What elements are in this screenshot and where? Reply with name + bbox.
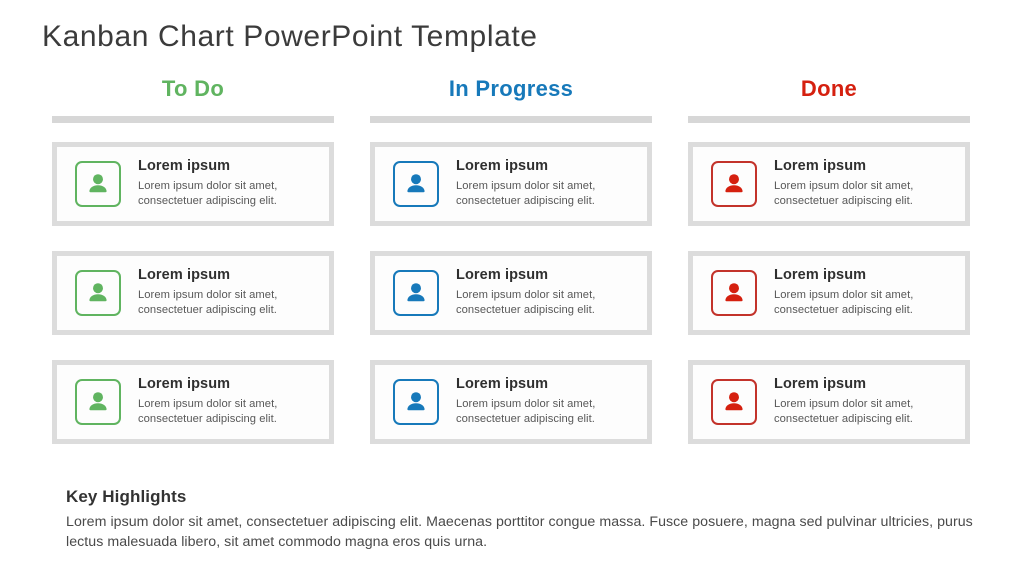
card-description: Lorem ipsum dolor sit amet, consectetuer… — [456, 397, 637, 427]
person-icon — [711, 161, 757, 207]
card-frame[interactable]: Lorem ipsum Lorem ipsum dolor sit amet, … — [688, 142, 970, 226]
person-icon — [75, 161, 121, 207]
card-text: Lorem ipsum Lorem ipsum dolor sit amet, … — [456, 159, 637, 209]
slide-title: Kanban Chart PowerPoint Template — [42, 20, 538, 54]
card-description: Lorem ipsum dolor sit amet, consectetuer… — [456, 179, 637, 209]
person-icon — [75, 270, 121, 316]
card-frame[interactable]: Lorem ipsum Lorem ipsum dolor sit amet, … — [52, 360, 334, 444]
card-description: Lorem ipsum dolor sit amet, consectetuer… — [138, 288, 319, 318]
kanban-card[interactable]: Lorem ipsum Lorem ipsum dolor sit amet, … — [57, 147, 329, 221]
card-text: Lorem ipsum Lorem ipsum dolor sit amet, … — [456, 377, 637, 427]
kanban-card[interactable]: Lorem ipsum Lorem ipsum dolor sit amet, … — [693, 147, 965, 221]
card-frame[interactable]: Lorem ipsum Lorem ipsum dolor sit amet, … — [688, 360, 970, 444]
column-divider-in-progress — [370, 116, 652, 123]
kanban-column-todo: To Do Lorem ipsum Lorem ipsum dolor sit … — [52, 78, 334, 444]
kanban-card[interactable]: Lorem ipsum Lorem ipsum dolor sit amet, … — [375, 365, 647, 439]
column-header-todo: To Do — [52, 78, 334, 104]
card-frame[interactable]: Lorem ipsum Lorem ipsum dolor sit amet, … — [52, 142, 334, 226]
card-description: Lorem ipsum dolor sit amet, consectetuer… — [138, 179, 319, 209]
column-divider-done — [688, 116, 970, 123]
kanban-column-in-progress: In Progress Lorem ipsum Lorem ipsum dolo… — [370, 78, 652, 444]
kanban-card[interactable]: Lorem ipsum Lorem ipsum dolor sit amet, … — [693, 256, 965, 330]
key-highlights-body: Lorem ipsum dolor sit amet, consectetuer… — [66, 513, 976, 553]
card-text: Lorem ipsum Lorem ipsum dolor sit amet, … — [138, 159, 319, 209]
column-header-in-progress: In Progress — [370, 78, 652, 104]
card-text: Lorem ipsum Lorem ipsum dolor sit amet, … — [774, 377, 955, 427]
card-title: Lorem ipsum — [456, 377, 637, 393]
person-icon — [393, 270, 439, 316]
person-icon — [75, 379, 121, 425]
card-title: Lorem ipsum — [456, 159, 637, 175]
card-text: Lorem ipsum Lorem ipsum dolor sit amet, … — [138, 268, 319, 318]
card-frame[interactable]: Lorem ipsum Lorem ipsum dolor sit amet, … — [688, 251, 970, 335]
kanban-card[interactable]: Lorem ipsum Lorem ipsum dolor sit amet, … — [57, 256, 329, 330]
person-icon — [393, 161, 439, 207]
column-divider-todo — [52, 116, 334, 123]
card-frame[interactable]: Lorem ipsum Lorem ipsum dolor sit amet, … — [370, 360, 652, 444]
card-description: Lorem ipsum dolor sit amet, consectetuer… — [774, 288, 955, 318]
card-title: Lorem ipsum — [774, 268, 955, 284]
card-text: Lorem ipsum Lorem ipsum dolor sit amet, … — [138, 377, 319, 427]
card-frame[interactable]: Lorem ipsum Lorem ipsum dolor sit amet, … — [370, 142, 652, 226]
kanban-card[interactable]: Lorem ipsum Lorem ipsum dolor sit amet, … — [57, 365, 329, 439]
card-title: Lorem ipsum — [774, 159, 955, 175]
kanban-column-done: Done Lorem ipsum Lorem ipsum dolor sit a… — [688, 78, 970, 444]
key-highlights-title: Key Highlights — [66, 487, 976, 507]
card-description: Lorem ipsum dolor sit amet, consectetuer… — [138, 397, 319, 427]
kanban-card[interactable]: Lorem ipsum Lorem ipsum dolor sit amet, … — [375, 147, 647, 221]
card-text: Lorem ipsum Lorem ipsum dolor sit amet, … — [456, 268, 637, 318]
card-description: Lorem ipsum dolor sit amet, consectetuer… — [774, 397, 955, 427]
card-frame[interactable]: Lorem ipsum Lorem ipsum dolor sit amet, … — [52, 251, 334, 335]
key-highlights-section: Key Highlights Lorem ipsum dolor sit ame… — [66, 487, 976, 553]
card-text: Lorem ipsum Lorem ipsum dolor sit amet, … — [774, 268, 955, 318]
card-title: Lorem ipsum — [138, 268, 319, 284]
card-text: Lorem ipsum Lorem ipsum dolor sit amet, … — [774, 159, 955, 209]
person-icon — [393, 379, 439, 425]
kanban-board: To Do Lorem ipsum Lorem ipsum dolor sit … — [0, 78, 1024, 444]
card-title: Lorem ipsum — [138, 377, 319, 393]
column-header-done: Done — [688, 78, 970, 104]
card-description: Lorem ipsum dolor sit amet, consectetuer… — [774, 179, 955, 209]
person-icon — [711, 379, 757, 425]
card-title: Lorem ipsum — [774, 377, 955, 393]
card-title: Lorem ipsum — [456, 268, 637, 284]
person-icon — [711, 270, 757, 316]
card-description: Lorem ipsum dolor sit amet, consectetuer… — [456, 288, 637, 318]
kanban-card[interactable]: Lorem ipsum Lorem ipsum dolor sit amet, … — [693, 365, 965, 439]
kanban-card[interactable]: Lorem ipsum Lorem ipsum dolor sit amet, … — [375, 256, 647, 330]
card-frame[interactable]: Lorem ipsum Lorem ipsum dolor sit amet, … — [370, 251, 652, 335]
card-title: Lorem ipsum — [138, 159, 319, 175]
